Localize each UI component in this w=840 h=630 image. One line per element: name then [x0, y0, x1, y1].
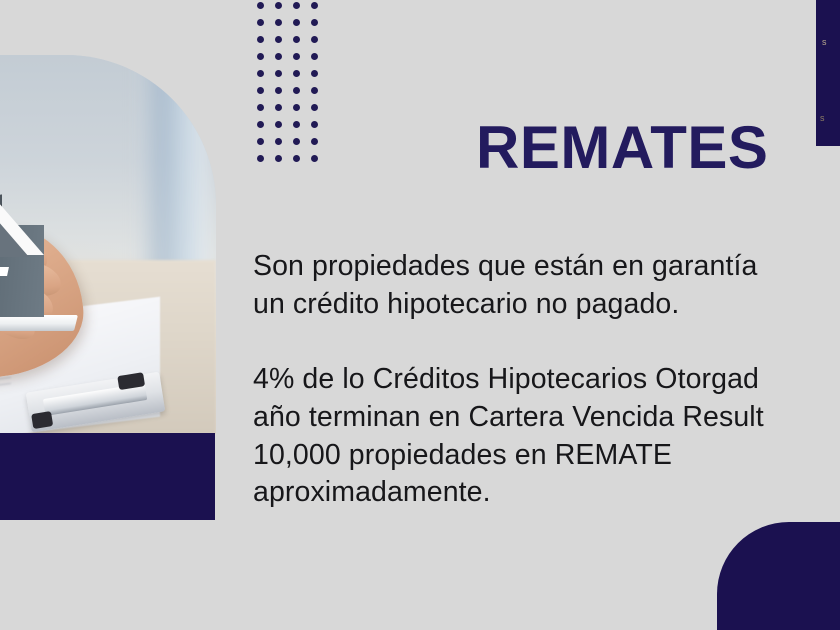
top-right-navy-tab: s s [816, 0, 840, 146]
house-base-plate [0, 315, 78, 331]
dot [257, 2, 264, 9]
dot [311, 87, 318, 94]
dot [257, 36, 264, 43]
dot [311, 155, 318, 162]
dot [311, 121, 318, 128]
dot [257, 121, 264, 128]
dot [275, 104, 282, 111]
dot [311, 70, 318, 77]
dot [275, 70, 282, 77]
dot [257, 53, 264, 60]
dot [293, 121, 300, 128]
dot [311, 138, 318, 145]
dot-grid-decoration [257, 2, 329, 172]
dot [311, 2, 318, 9]
dot [293, 2, 300, 9]
dot [293, 155, 300, 162]
page-title: REMATES [476, 118, 768, 178]
paragraph-statistic-line-1: 4% de lo Créditos Hipotecarios Otorgad [253, 361, 840, 399]
navy-block-under-photo [0, 433, 215, 520]
hero-photo [0, 55, 216, 434]
dot [275, 53, 282, 60]
body-copy: Son propiedades que están en garantía un… [253, 248, 840, 512]
dot [257, 155, 264, 162]
paragraph-statistic-line-2: año terminan en Cartera Vencida Result [253, 399, 840, 437]
paragraph-statistic-line-3: 10,000 propiedades en REMATE [253, 437, 840, 475]
slide-canvas: s s REMATES Son propiedades que están en… [0, 0, 840, 630]
dot [275, 19, 282, 26]
dot [311, 53, 318, 60]
paragraph-definition-line-1: Son propiedades que están en garantía [253, 248, 840, 286]
dot [293, 70, 300, 77]
paragraph-spacer [253, 324, 840, 361]
dot [311, 36, 318, 43]
dot [311, 19, 318, 26]
dot [293, 138, 300, 145]
dot [275, 121, 282, 128]
dot [275, 155, 282, 162]
corner-tab-text-line1: s [822, 36, 827, 50]
house-gable-inner [0, 213, 29, 257]
dot [293, 53, 300, 60]
dot [293, 36, 300, 43]
corner-tab-text-line2: s [820, 112, 825, 125]
dot [293, 19, 300, 26]
paragraph-statistic-line-4: aproximadamente. [253, 474, 840, 512]
dot [311, 104, 318, 111]
photo-window-blur [136, 55, 210, 290]
dot [257, 104, 264, 111]
dot [257, 70, 264, 77]
dot [275, 138, 282, 145]
dot [275, 36, 282, 43]
dot [293, 87, 300, 94]
dot [293, 104, 300, 111]
dot [257, 87, 264, 94]
photo-backdrop [0, 55, 216, 434]
dot [257, 138, 264, 145]
paragraph-definition-line-2: un crédito hipotecario no pagado. [253, 286, 840, 324]
dot [275, 2, 282, 9]
dot [257, 19, 264, 26]
photo-clipboard-grip-left [31, 411, 53, 429]
bottom-right-navy-shape [717, 522, 840, 630]
photo-model-house [0, 167, 84, 331]
dot [275, 87, 282, 94]
